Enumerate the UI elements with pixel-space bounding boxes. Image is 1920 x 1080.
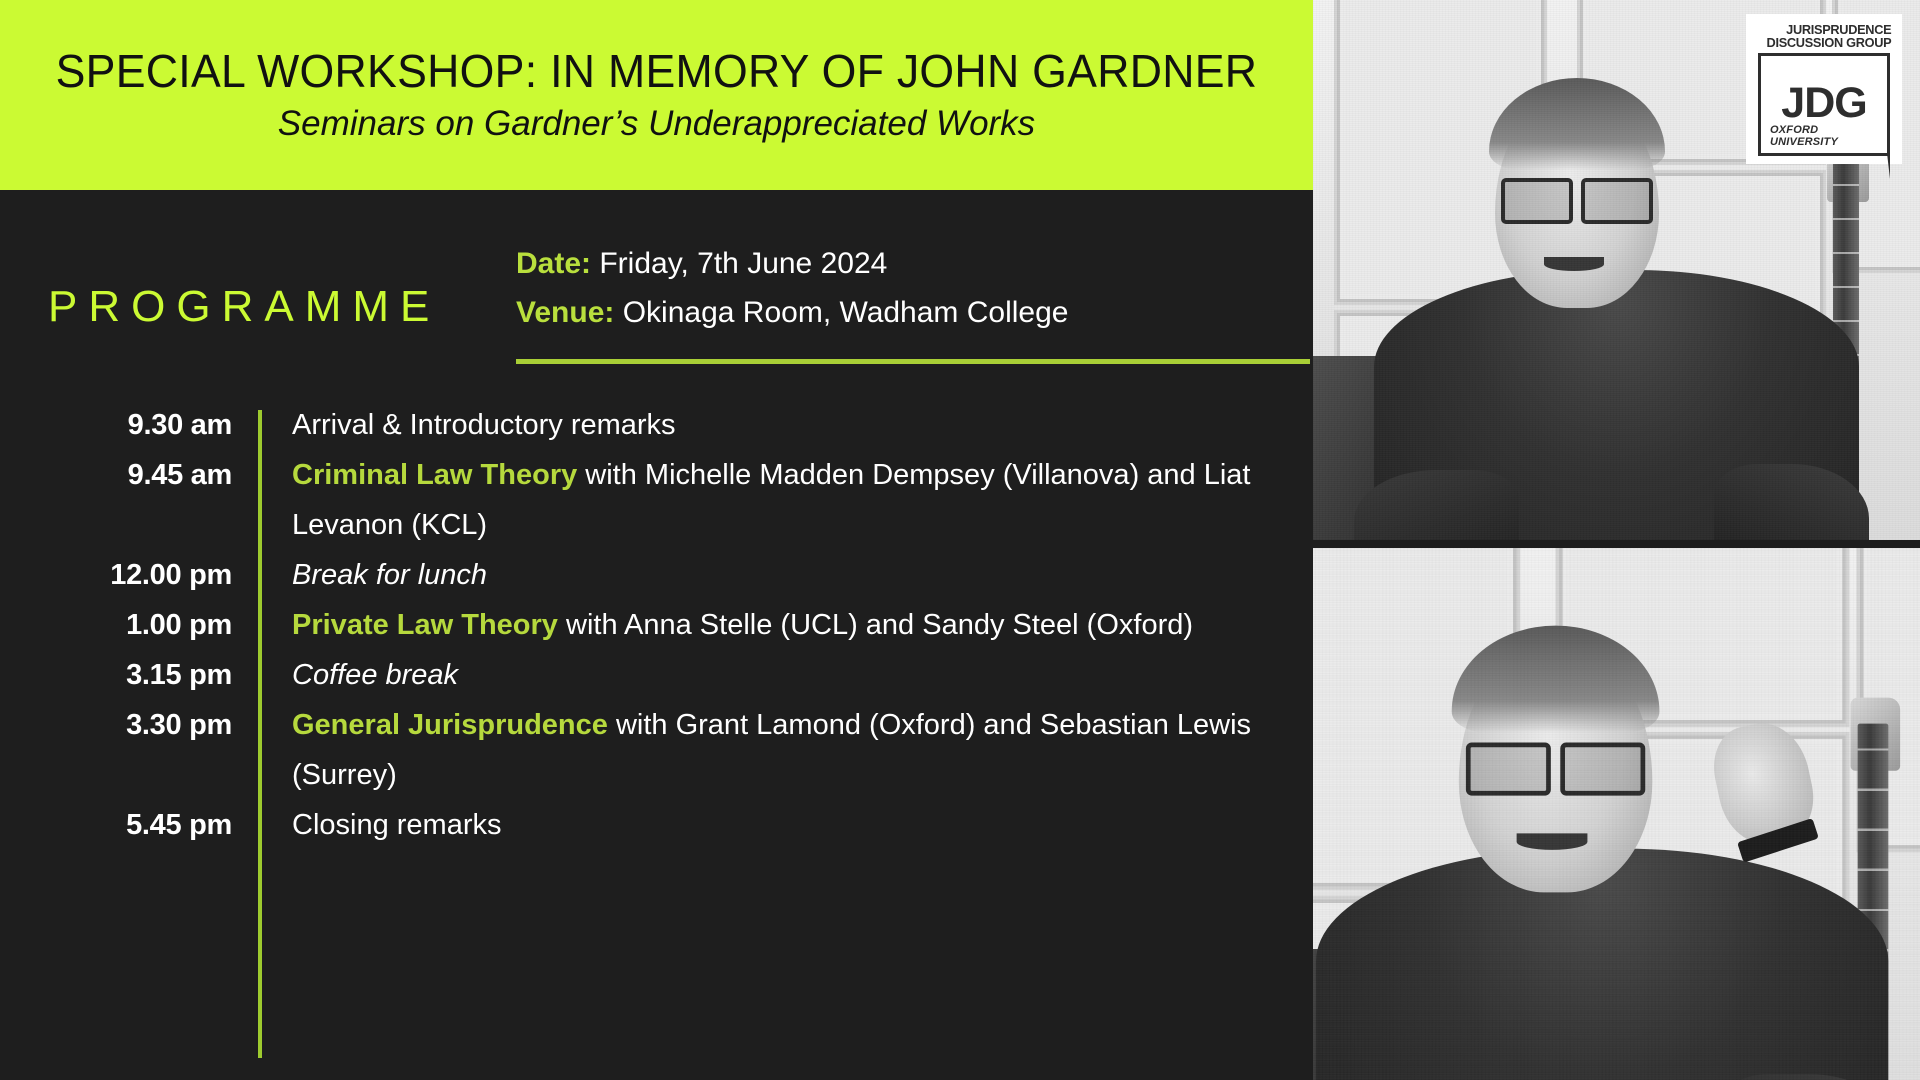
glasses-icon — [1501, 178, 1653, 216]
schedule-row: 9.30 amArrival & Introductory remarks — [0, 400, 1313, 450]
jdg-logo: JURISPRUDENCE DISCUSSION GROUP JDG OXFOR… — [1746, 14, 1902, 164]
jdg-speech-bubble-icon: JDG OXFORD UNIVERSITY — [1758, 53, 1890, 156]
venue-label: Venue: — [516, 296, 614, 329]
person-left-arm — [1354, 470, 1519, 540]
schedule-row: 9.45 amCriminal Law Theory with Michelle… — [0, 450, 1313, 550]
date-label: Date: — [516, 247, 591, 280]
person-body — [1316, 849, 1889, 1080]
schedule-row-time: 5.45 pm — [0, 800, 258, 850]
date-value: Friday, 7th June 2024 — [599, 247, 887, 280]
schedule-row-time: 3.15 pm — [0, 650, 258, 700]
schedule-row: 3.30 pmGeneral Jurisprudence with Grant … — [0, 700, 1313, 800]
schedule-row-detail: Closing remarks — [292, 809, 502, 841]
schedule-row-description: Criminal Law Theory with Michelle Madden… — [258, 450, 1308, 550]
schedule-row: 3.15 pmCoffee break — [0, 650, 1313, 700]
john-gardner-photo-bottom — [1313, 548, 1920, 1080]
schedule-row-topic: General Jurisprudence — [292, 709, 608, 741]
schedule-list: 9.30 amArrival & Introductory remarks9.4… — [0, 400, 1313, 850]
photo-scene-bottom — [1313, 548, 1920, 1080]
schedule-row-description: Coffee break — [258, 650, 1308, 700]
schedule-section: 9.30 amArrival & Introductory remarks9.4… — [0, 400, 1313, 1060]
schedule-row-topic: Criminal Law Theory — [292, 459, 577, 491]
event-date-line: Date: Friday, 7th June 2024 — [516, 240, 1310, 289]
jdg-logo-line2: DISCUSSION GROUP — [1757, 37, 1892, 50]
schedule-row-detail: Arrival & Introductory remarks — [292, 409, 676, 441]
person-body — [1374, 270, 1860, 540]
person-right-arm — [1717, 1074, 1900, 1080]
meta-divider — [516, 359, 1310, 364]
venue-value: Okinaga Room, Wadham College — [623, 296, 1069, 329]
jdg-logo-mark: JDG — [1781, 82, 1866, 125]
schedule-row: 1.00 pmPrivate Law Theory with Anna Stel… — [0, 600, 1313, 650]
photo-column: JURISPRUDENCE DISCUSSION GROUP JDG OXFOR… — [1313, 0, 1920, 1080]
schedule-row-time: 9.45 am — [0, 450, 258, 500]
schedule-row-detail: with Anna Stelle (UCL) and Sandy Steel (… — [558, 609, 1193, 641]
event-venue-line: Venue: Okinaga Room, Wadham College — [516, 289, 1310, 338]
person-right-arm — [1714, 464, 1869, 540]
jdg-logo-wordmark: JURISPRUDENCE DISCUSSION GROUP — [1757, 24, 1892, 49]
programme-heading: PROGRAMME — [48, 285, 440, 329]
schedule-row-time: 12.00 pm — [0, 550, 258, 600]
poster-root: SPECIAL WORKSHOP: IN MEMORY OF JOHN GARD… — [0, 0, 1920, 1080]
header-band: SPECIAL WORKSHOP: IN MEMORY OF JOHN GARD… — [0, 0, 1313, 190]
jdg-logo-line1: JURISPRUDENCE — [1757, 24, 1892, 37]
schedule-row-time: 1.00 pm — [0, 600, 258, 650]
schedule-row-time: 3.30 pm — [0, 700, 258, 750]
schedule-row: 12.00 pmBreak for lunch — [0, 550, 1313, 600]
jdg-logo-affiliation: OXFORD UNIVERSITY — [1767, 124, 1887, 148]
schedule-row-time: 9.30 am — [0, 400, 258, 450]
person-mouth — [1544, 257, 1605, 271]
event-meta: Date: Friday, 7th June 2024 Venue: Okina… — [516, 240, 1310, 337]
schedule-row: 5.45 pmClosing remarks — [0, 800, 1313, 850]
glasses-icon — [1466, 742, 1645, 786]
schedule-row-description: Private Law Theory with Anna Stelle (UCL… — [258, 600, 1308, 650]
schedule-row-description: Break for lunch — [258, 550, 1308, 600]
page-subtitle: Seminars on Gardner’s Underappreciated W… — [278, 106, 1035, 143]
schedule-row-detail: Coffee break — [292, 659, 458, 691]
schedule-row-detail: Break for lunch — [292, 559, 487, 591]
schedule-row-description: Closing remarks — [258, 800, 1308, 850]
page-title: SPECIAL WORKSHOP: IN MEMORY OF JOHN GARD… — [56, 47, 1258, 95]
schedule-row-description: General Jurisprudence with Grant Lamond … — [258, 700, 1308, 800]
schedule-row-description: Arrival & Introductory remarks — [258, 400, 1308, 450]
schedule-row-topic: Private Law Theory — [292, 609, 558, 641]
john-gardner-photo-top: JURISPRUDENCE DISCUSSION GROUP JDG OXFOR… — [1313, 0, 1920, 540]
person-mouth — [1516, 833, 1588, 849]
content-column: SPECIAL WORKSHOP: IN MEMORY OF JOHN GARD… — [0, 0, 1313, 1080]
